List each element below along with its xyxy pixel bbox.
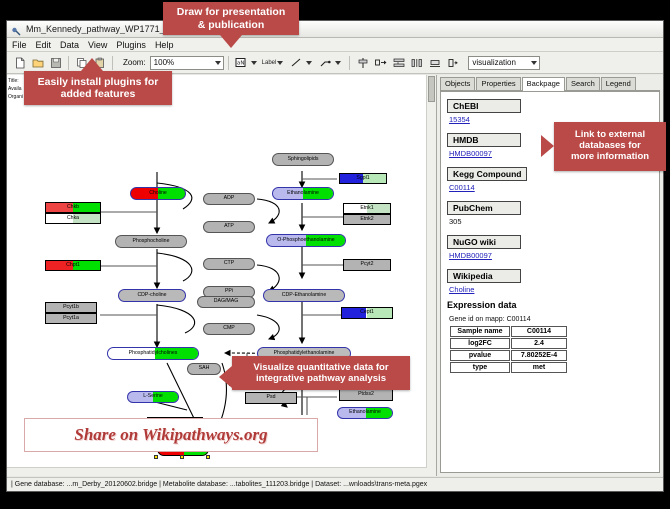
menu-item-data[interactable]: Data (60, 40, 79, 50)
chevron-down-icon[interactable] (215, 61, 221, 65)
wikipedia-link[interactable]: Choline (449, 285, 655, 294)
node-l-serine-low[interactable]: L-Serine (127, 391, 179, 403)
visualization-value: visualization (472, 58, 516, 67)
node-label: L-Serine (143, 394, 163, 399)
node-label: PPi (225, 289, 233, 294)
node-ethanolamine-low[interactable]: Ethanolamine (337, 407, 393, 419)
distribute-icon[interactable] (408, 54, 425, 71)
menu-bar[interactable]: File Edit Data View Plugins Help (7, 38, 663, 52)
node-label: Ethanolamine (287, 191, 319, 196)
callout-plugins-line1: Easily install plugins for (38, 76, 159, 88)
gene-label: Etnk1 (360, 206, 373, 211)
gene-cept1[interactable]: Cept1 (341, 307, 393, 319)
node-choline-top[interactable]: Choline (130, 187, 186, 200)
section-heading-chebi: ChEBI (447, 99, 521, 113)
chevron-down-icon[interactable] (277, 61, 283, 65)
callout-draw: Draw for presentation & publication (163, 2, 299, 35)
pathway-canvas[interactable]: Title: Availa Organi (7, 75, 437, 476)
group-icon[interactable] (372, 54, 389, 71)
pubchem-value: 305 (449, 217, 655, 226)
stack-icon[interactable] (390, 54, 407, 71)
datanode-icon[interactable]: aN (233, 54, 250, 71)
screenshot-root: Mm_Kennedy_pathway_WP1771_45176.gpml Fil… (0, 0, 670, 509)
gene-label: Cept1 (360, 310, 374, 315)
callout-link-line3: more information (571, 152, 649, 163)
bring-front-icon[interactable] (444, 54, 461, 71)
gene-pcyt1b[interactable]: Pcyt1b (45, 302, 97, 313)
node-sphingolipids[interactable]: Sphingolipids (272, 153, 334, 166)
open-folder-icon[interactable] (29, 54, 46, 71)
menu-item-view[interactable]: View (88, 40, 107, 50)
tab-properties[interactable]: Properties (476, 77, 520, 90)
status-bar-text: | Gene database: ...m_Derby_20120602.bri… (11, 481, 427, 488)
node-label: CDP-choline (137, 293, 166, 298)
node-atp[interactable]: ATP (203, 221, 255, 233)
gene-label: Sgpl1 (356, 176, 369, 181)
callout-link-databases: Link to external databases for more info… (554, 122, 666, 171)
gene-label: Chkb (67, 205, 79, 210)
node-label: Phosphocholine (133, 239, 170, 244)
table-cell-key: log2FC (450, 338, 510, 349)
callout-visualize-arrow (219, 366, 232, 388)
gene-label: Psd (267, 395, 276, 400)
gene-label: Chpt1 (66, 263, 80, 268)
node-label: Sphingolipids (288, 157, 319, 162)
node-cdp-choline[interactable]: CDP-choline (118, 289, 186, 302)
table-row: type met (450, 362, 567, 373)
gene-etnk2[interactable]: Etnk2 (343, 214, 391, 225)
callout-draw-line2: & publication (198, 19, 265, 31)
nugo-link[interactable]: HMDB00097 (449, 251, 655, 260)
share-banner-text: Share on Wikipathways.org (74, 425, 267, 445)
canvas-vertical-scrollbar[interactable] (426, 75, 436, 476)
selection-handle[interactable] (180, 455, 184, 459)
tab-backpage[interactable]: Backpage (522, 77, 565, 91)
section-heading-hmdb: HMDB (447, 133, 521, 147)
callout-plugins-arrow (81, 58, 103, 71)
label-tool[interactable]: Label (262, 60, 288, 66)
node-sah[interactable]: SAH (187, 363, 221, 375)
callout-visualize-line2: integrative pathway analysis (256, 373, 386, 384)
gene-label: Ptdss2 (358, 392, 374, 397)
table-row: Sample name C00114 (450, 326, 567, 337)
node-dag-mag[interactable]: DAG/MAG (197, 296, 255, 308)
zoom-combo[interactable]: 100% (150, 56, 224, 70)
table-cell-value: 2.4 (511, 338, 567, 349)
table-cell-value: 7.80252E-4 (511, 350, 567, 361)
gene-chpt1[interactable]: Chpt1 (45, 260, 101, 271)
node-phosphatidylcholines[interactable]: Phosphatidylcholines (107, 347, 199, 360)
toolbar-separator-4 (349, 56, 350, 70)
chevron-down-icon[interactable] (335, 61, 341, 65)
callout-plugins: Easily install plugins for added feature… (24, 71, 172, 105)
callout-visualize-line1: Visualize quantitative data for (253, 362, 388, 373)
menu-item-file[interactable]: File (12, 40, 27, 50)
share-banner: Share on Wikipathways.org (24, 418, 318, 452)
kegg-link[interactable]: C00114 (449, 183, 655, 192)
gene-label: Etnk2 (360, 217, 373, 222)
tab-search[interactable]: Search (566, 77, 600, 90)
node-label: SAH (199, 366, 210, 371)
section-heading-nugo: NuGO wiki (447, 235, 521, 249)
gene-pcyt1a[interactable]: Pcyt1a (45, 313, 97, 324)
node-label: DAG/MAG (214, 299, 239, 304)
expression-data-table: Sample name C00114 log2FC 2.4 pvalue 7.8… (449, 325, 568, 374)
table-cell-key: pvalue (450, 350, 510, 361)
toolbar-separator (68, 56, 69, 70)
table-cell-key: type (450, 362, 510, 373)
node-label: CMP (223, 326, 235, 331)
datanode-tool[interactable]: aN (233, 54, 261, 71)
gene-etnk1[interactable]: Etnk1 (343, 203, 391, 214)
table-cell-value: C00114 (511, 326, 567, 337)
section-heading-wikipedia: Wikipedia (447, 269, 521, 283)
table-row: log2FC 2.4 (450, 338, 567, 349)
callout-draw-line1: Draw for presentation (177, 6, 286, 18)
section-heading-pubchem: PubChem (447, 201, 521, 215)
section-heading-kegg: Kegg Compound (447, 167, 527, 181)
visualization-combo[interactable]: visualization (468, 56, 540, 70)
node-cdp-ethanolamine[interactable]: CDP-Ethanolamine (263, 289, 345, 302)
node-label: Phosphatidylcholines (129, 351, 178, 356)
app-icon (11, 24, 22, 35)
gene-pcyt2[interactable]: Pcyt2 (343, 259, 391, 271)
menu-item-edit[interactable]: Edit (36, 40, 52, 50)
zoom-label: Zoom: (123, 58, 146, 67)
node-phosphocholine[interactable]: Phosphocholine (115, 235, 187, 248)
gene-ptdss2[interactable]: Ptdss2 (339, 389, 393, 401)
callout-plugins-line2: added features (61, 88, 136, 100)
node-cmp[interactable]: CMP (203, 323, 255, 335)
node-label: CTP (224, 261, 234, 266)
chevron-down-icon[interactable] (531, 61, 537, 65)
node-o-phosphoethanolamine[interactable]: O-Phosphoethanolamine (266, 234, 346, 247)
gene-label: Pcyt2 (361, 262, 374, 267)
node-adp[interactable]: ADP (203, 193, 255, 205)
scrollbar-thumb[interactable] (428, 76, 435, 102)
node-ctp[interactable]: CTP (203, 258, 255, 270)
gene-psd[interactable]: Psd (245, 392, 297, 404)
expression-data-title: Expression data (447, 300, 655, 310)
node-ethanolamine[interactable]: Ethanolamine (272, 187, 334, 200)
side-panel-tabs[interactable]: Objects Properties Backpage Search Legen… (440, 77, 660, 91)
svg-text:aN: aN (237, 61, 245, 67)
canvas-horizontal-scrollbar[interactable] (7, 467, 427, 476)
status-bar: | Gene database: ...m_Derby_20120602.bri… (7, 477, 663, 491)
gene-label: Pcyt1b (63, 305, 79, 310)
node-label: Ethanolamine (349, 410, 381, 415)
anchor-tool[interactable] (317, 54, 345, 71)
gene-chkb[interactable]: Chkb (45, 202, 101, 213)
table-cell-value: met (511, 362, 567, 373)
gene-id-on-mapp: Gene id on mapp: C00114 (449, 316, 655, 323)
tab-objects[interactable]: Objects (440, 77, 475, 90)
node-label: O-Phosphoethanolamine (277, 238, 334, 243)
selection-handle[interactable] (206, 455, 210, 459)
node-label: ADP (224, 196, 235, 201)
label-tool-label: Label (262, 60, 277, 66)
chevron-down-icon[interactable] (251, 61, 257, 65)
title-bar: Mm_Kennedy_pathway_WP1771_45176.gpml (7, 21, 663, 38)
callout-link-arrow (541, 135, 554, 157)
gene-label: Pcyt1a (63, 316, 79, 321)
gene-label: Chka (67, 216, 79, 221)
node-label: ATP (224, 224, 234, 229)
menu-item-help[interactable]: Help (155, 40, 174, 50)
line-tool[interactable] (288, 54, 316, 71)
gene-sgpl1[interactable]: Sgpl1 (339, 173, 387, 184)
order-icon[interactable] (426, 54, 443, 71)
line-icon[interactable] (288, 54, 305, 71)
save-icon[interactable] (47, 54, 64, 71)
menu-item-plugins[interactable]: Plugins (116, 40, 146, 50)
table-cell-key: Sample name (450, 326, 510, 337)
chevron-down-icon[interactable] (306, 61, 312, 65)
tab-legend[interactable]: Legend (601, 77, 636, 90)
node-label: CDP-Ethanolamine (282, 293, 326, 298)
toolbar-separator-3 (228, 56, 229, 70)
gene-chka[interactable]: Chka (45, 213, 101, 224)
callout-draw-arrow (220, 35, 242, 48)
node-label: Choline (149, 191, 167, 196)
align-icon[interactable] (354, 54, 371, 71)
table-row: pvalue 7.80252E-4 (450, 350, 567, 361)
new-file-icon[interactable] (11, 54, 28, 71)
toolbar-separator-2 (112, 56, 113, 70)
anchor-icon[interactable] (317, 54, 334, 71)
callout-visualize: Visualize quantitative data for integrat… (232, 356, 410, 390)
selection-handle[interactable] (154, 455, 158, 459)
zoom-value: 100% (154, 58, 174, 67)
